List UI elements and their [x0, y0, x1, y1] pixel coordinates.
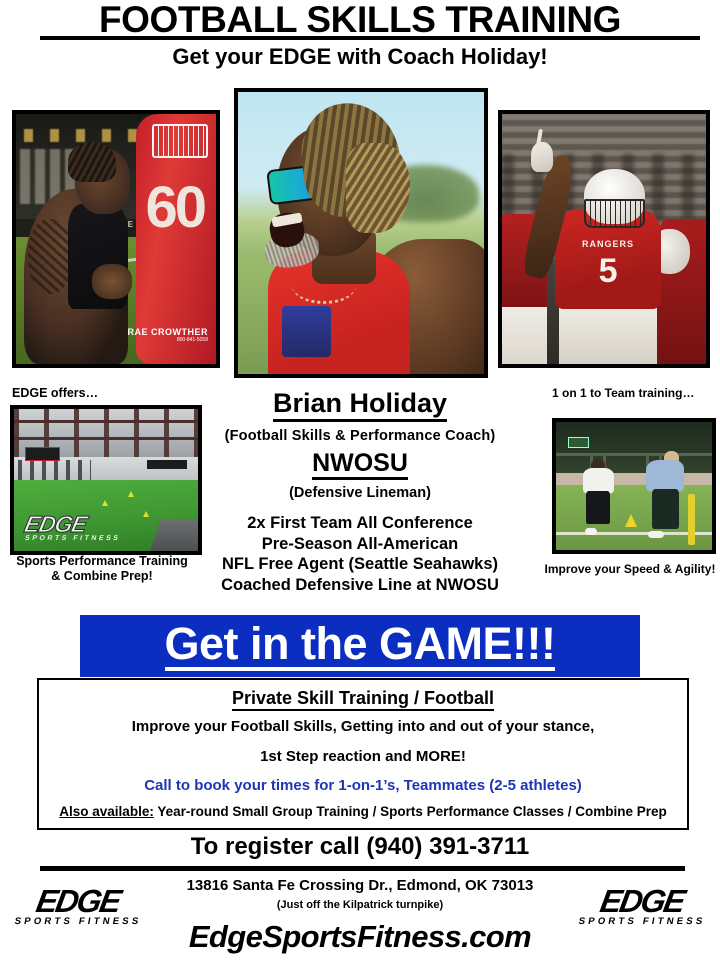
- register-phone-line: To register call (940) 391-3711: [0, 833, 720, 861]
- photo-athlete-sled: PERSEVERE 60 RAE CROWTHER800-841-5058: [12, 110, 220, 368]
- get-in-the-game-banner: Get in the GAME!!!: [80, 615, 640, 677]
- page-subtitle: Get your EDGE with Coach Holiday!: [0, 44, 720, 70]
- credential-item: Coached Defensive Line at NWOSU: [190, 575, 530, 596]
- sled-number-label: 60: [145, 174, 204, 241]
- address-line: 13816 Santa Fe Crossing Dr., Edmond, OK …: [140, 876, 580, 895]
- website-line: EdgeSportsFitness.com: [100, 920, 620, 954]
- coach-credentials: 2x First Team All Conference Pre-Season …: [190, 513, 530, 595]
- coach-bio: Brian Holiday (Football Skills & Perform…: [190, 388, 530, 595]
- training-info-box: Private Skill Training / Football Improv…: [37, 678, 689, 830]
- sled-brand-label: RAE CROWTHER800-841-5058: [128, 328, 209, 344]
- footer-divider-rule: [40, 866, 685, 871]
- jersey-number-label: 5: [563, 254, 653, 288]
- flyer-page: FOOTBALL SKILLS TRAINING Get your EDGE w…: [0, 0, 720, 960]
- photo-rangers-lineman: RANGERS 5: [498, 110, 710, 368]
- banner-text: Get in the GAME!!!: [80, 615, 640, 677]
- credential-item: Pre-Season All-American: [190, 534, 530, 555]
- speed-agility-caption: Improve your Speed & Agility!: [540, 562, 720, 577]
- coach-school: NWOSU: [312, 449, 408, 480]
- jersey-team-label: RANGERS: [563, 239, 653, 249]
- credential-item: NFL Free Agent (Seattle Seahawks): [190, 554, 530, 575]
- sports-performance-caption: Sports Performance Training & Combine Pr…: [0, 554, 204, 584]
- credential-item: 2x First Team All Conference: [190, 513, 530, 534]
- facility-edge-logo: EDGE SPORTS FITNESS: [25, 513, 132, 542]
- page-title: FOOTBALL SKILLS TRAINING: [0, 2, 720, 38]
- header-divider-rule: [40, 36, 700, 40]
- photo-facility-turf: EDGE SPORTS FITNESS: [10, 405, 202, 555]
- info-also-available: Also available: Year-round Small Group T…: [47, 804, 679, 819]
- photo-agility-drill: [552, 418, 716, 554]
- one-on-one-caption: 1 on 1 to Team training…: [552, 386, 694, 400]
- info-heading: Private Skill Training / Football: [39, 688, 687, 709]
- info-call-to-action: Call to book your times for 1-on-1’s, Te…: [39, 777, 687, 794]
- coach-name: Brian Holiday: [273, 388, 447, 422]
- info-line-1: Improve your Football Skills, Getting in…: [39, 718, 687, 735]
- coach-position: (Defensive Lineman): [190, 483, 530, 504]
- address-note: (Just off the Kilpatrick turnpike): [140, 898, 580, 912]
- info-line-2: 1st Step reaction and MORE!: [39, 748, 687, 765]
- edge-offers-caption: EDGE offers…: [12, 386, 98, 400]
- photo-coach-portrait: [234, 88, 488, 378]
- coach-role: (Football Skills & Performance Coach): [190, 425, 530, 447]
